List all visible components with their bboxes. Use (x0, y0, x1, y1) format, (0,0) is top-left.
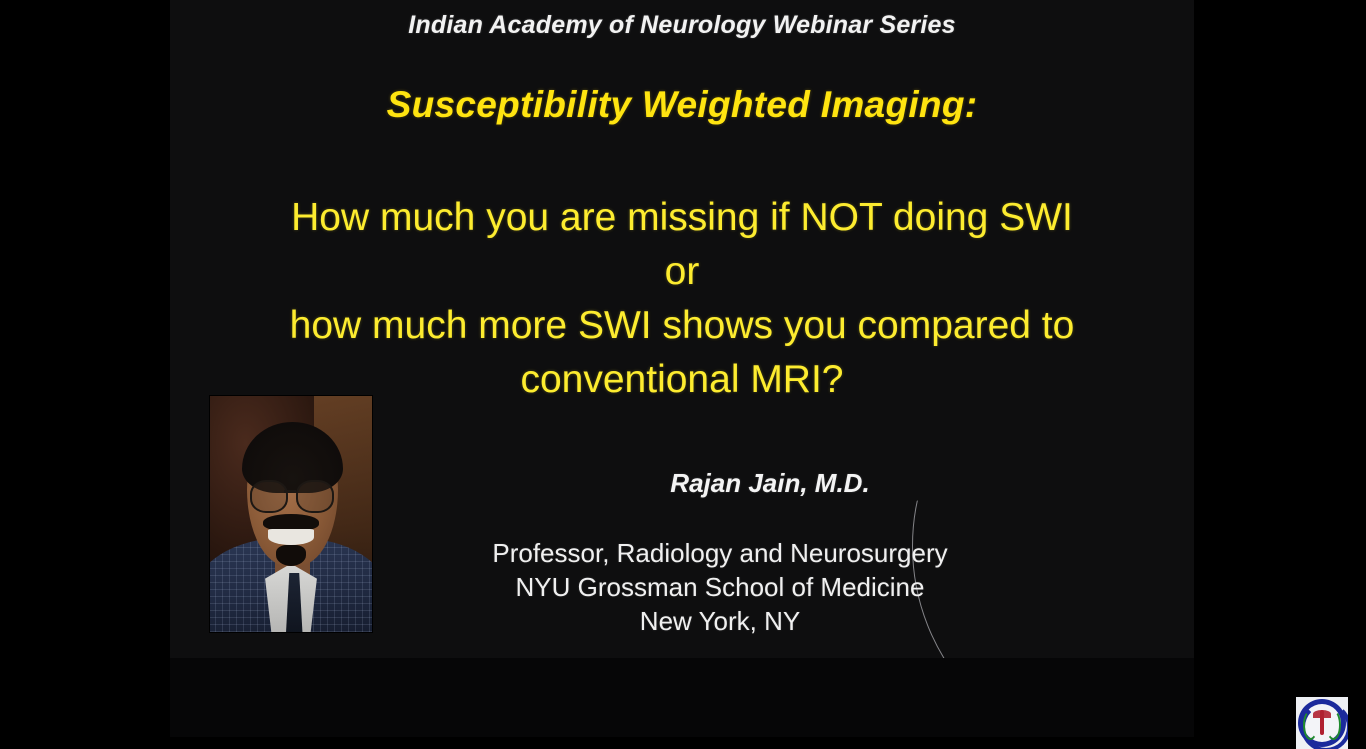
slide-subtitle: How much you are missing if NOT doing SW… (170, 191, 1194, 407)
portrait-smile (268, 529, 313, 544)
subtitle-line-1: How much you are missing if NOT doing SW… (170, 191, 1194, 245)
slide-bottom-fill (170, 658, 1194, 737)
presenter-name: Rajan Jain, M.D. (470, 468, 1070, 499)
portrait-glasses-right-lens (296, 480, 334, 514)
presentation-slide: Indian Academy of Neurology Webinar Seri… (170, 0, 1194, 658)
portrait-beard (276, 545, 305, 566)
affiliation-line-3: New York, NY (370, 604, 1070, 638)
portrait-moustache (263, 514, 318, 531)
presenter-portrait-photo (210, 396, 372, 632)
subtitle-line-2: or (170, 245, 1194, 299)
letterbox-right (1194, 0, 1366, 737)
slide-title: Susceptibility Weighted Imaging: (170, 84, 1194, 126)
affiliation-line-2: NYU Grossman School of Medicine (370, 570, 1070, 604)
video-frame: Indian Academy of Neurology Webinar Seri… (0, 0, 1366, 737)
indian-academy-of-neurology-emblem-icon (1296, 697, 1348, 749)
portrait-glasses-left-lens (250, 480, 288, 514)
webinar-series-header: Indian Academy of Neurology Webinar Seri… (170, 11, 1194, 40)
presenter-affiliation: Professor, Radiology and Neurosurgery NY… (370, 536, 1070, 638)
affiliation-line-1: Professor, Radiology and Neurosurgery (370, 536, 1070, 570)
ian-caduceus-staff (1320, 710, 1324, 735)
portrait-glasses-bridge (284, 490, 296, 492)
letterbox-left (0, 0, 170, 737)
subtitle-line-3: how much more SWI shows you compared to (170, 299, 1194, 353)
